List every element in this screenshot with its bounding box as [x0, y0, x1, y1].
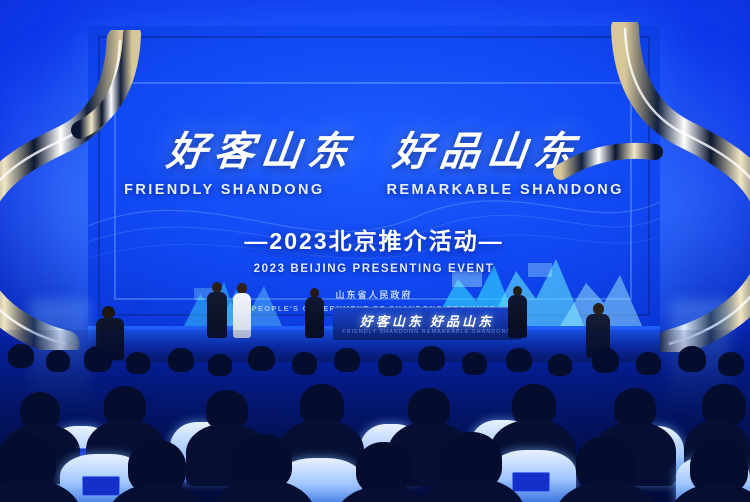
title-cn-left: 好客山东 [165, 132, 358, 172]
audience-area [0, 330, 750, 502]
event-photo-stage: 好客山东 好品山东 FRIENDLY SHANDONG REMARKABLE S… [0, 0, 750, 502]
title-en-left: FRIENDLY SHANDONG [124, 182, 324, 198]
event-title-en: 2023 BEIJING PRESENTING EVENT [88, 263, 660, 275]
led-screen: 好客山东 好品山东 FRIENDLY SHANDONG REMARKABLE S… [88, 26, 660, 326]
event-title-cn: —2023北京推介活动— [88, 222, 660, 256]
chair-placard [512, 472, 550, 492]
title-en-right: REMARKABLE SHANDONG [387, 182, 624, 198]
headline-block: 好客山东 好品山东 FRIENDLY SHANDONG REMARKABLE S… [88, 132, 660, 275]
organizer-cn: 山东省人民政府 [88, 288, 660, 301]
podium-text-cn: 好客山东 好品山东 [360, 311, 494, 330]
title-cn-right: 好品山东 [391, 132, 584, 172]
main-title-en: FRIENDLY SHANDONG REMARKABLE SHANDONG [88, 182, 660, 198]
chair-placard [82, 476, 120, 496]
main-title-cn: 好客山东 好品山东 [88, 132, 660, 172]
